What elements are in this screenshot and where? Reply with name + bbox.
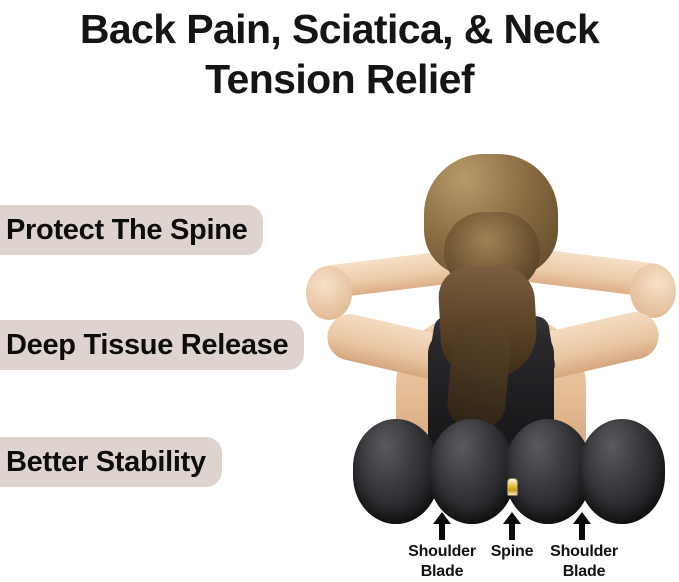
arrow-head <box>573 512 591 524</box>
up-arrow-icon <box>433 512 451 540</box>
anatomy-label-line-2: Blade <box>386 562 498 582</box>
anatomy-label-line-2: Blade <box>528 562 640 582</box>
hair-strands <box>445 318 512 431</box>
left-elbow <box>306 266 352 320</box>
feature-badge-deep-tissue-release: Deep Tissue Release <box>0 320 304 370</box>
feature-badge-label: Deep Tissue Release <box>6 329 288 362</box>
feature-badge-better-stability: Better Stability <box>0 437 222 487</box>
brand-logo-icon <box>507 478 518 496</box>
up-arrow-icon <box>503 512 521 540</box>
product-infographic: Back Pain, Sciatica, & Neck Tension Reli… <box>0 0 679 582</box>
right-elbow <box>630 264 676 318</box>
anatomy-label-line-1: Shoulder <box>408 543 476 560</box>
title-line-2: Tension Relief <box>0 54 679 104</box>
anatomy-label-line-1: Shoulder <box>550 543 618 560</box>
title-line-1: Back Pain, Sciatica, & Neck <box>80 6 599 52</box>
roller-lobe <box>429 419 515 524</box>
foam-roller <box>353 419 665 524</box>
product-photo <box>300 140 679 525</box>
page-title: Back Pain, Sciatica, & Neck Tension Reli… <box>0 4 679 104</box>
arrow-head <box>503 512 521 524</box>
roller-lobe <box>579 419 665 524</box>
arrow-head <box>433 512 451 524</box>
feature-badge-label: Protect The Spine <box>6 214 247 247</box>
feature-badge-label: Better Stability <box>6 446 206 479</box>
roller-lobe <box>353 419 439 524</box>
anatomy-label-line-1: Spine <box>491 543 534 560</box>
anatomy-label-shoulder-blade-right: Shoulder Blade <box>528 542 640 582</box>
feature-badge-protect-the-spine: Protect The Spine <box>0 205 263 255</box>
up-arrow-icon <box>573 512 591 540</box>
